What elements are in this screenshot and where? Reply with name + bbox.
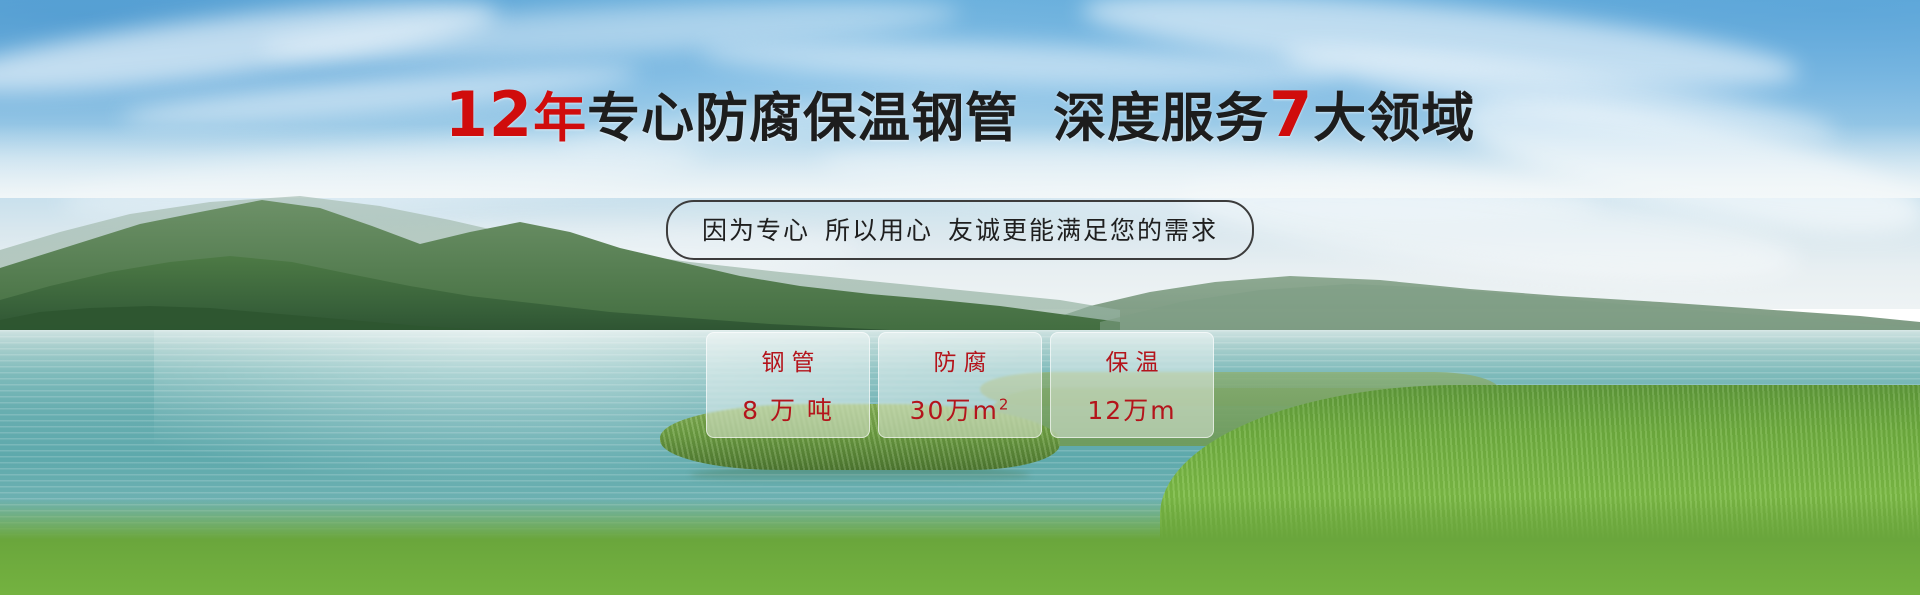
headline-part-two: 深度服务 bbox=[1053, 88, 1269, 149]
stat-value-text: 12万m bbox=[1087, 396, 1176, 425]
headline-part-one: 专心防腐保温钢管 bbox=[587, 88, 1019, 149]
page-title: 12年专心防腐保温钢管深度服务7大领域 bbox=[0, 84, 1920, 146]
stat-label: 保温 bbox=[1099, 343, 1166, 377]
grass-field-bottom bbox=[0, 499, 1920, 595]
headline-part-three: 大领域 bbox=[1313, 88, 1475, 149]
subtitle-segment-1: 因为专心 bbox=[702, 216, 810, 245]
subtitle-segment-3: 友诚更能满足您的需求 bbox=[948, 216, 1218, 245]
stat-card-group: 钢管 8 万 吨 防腐 30万m2 保温 12万m bbox=[706, 332, 1214, 438]
stat-card-anticorrosion[interactable]: 防腐 30万m2 bbox=[878, 332, 1042, 438]
headline-years-unit: 年 bbox=[533, 88, 587, 149]
subtitle-segment-2: 所以用心 bbox=[825, 216, 933, 245]
stat-value-text: 30万m bbox=[910, 396, 999, 425]
stat-value-text: 8 万 吨 bbox=[742, 396, 834, 425]
hero-banner: 12年专心防腐保温钢管深度服务7大领域 因为专心所以用心友诚更能满足您的需求 钢… bbox=[0, 0, 1920, 595]
headline-years-number: 12 bbox=[445, 78, 533, 151]
stat-value: 8 万 吨 bbox=[742, 391, 834, 427]
stat-card-steel-pipe[interactable]: 钢管 8 万 吨 bbox=[706, 332, 870, 438]
stat-label: 钢管 bbox=[755, 343, 822, 377]
stat-value-superscript: 2 bbox=[999, 396, 1011, 414]
stat-card-insulation[interactable]: 保温 12万m bbox=[1050, 332, 1214, 438]
subtitle-pill: 因为专心所以用心友诚更能满足您的需求 bbox=[666, 200, 1254, 260]
headline-fields-number: 7 bbox=[1269, 78, 1313, 151]
stat-label: 防腐 bbox=[927, 343, 994, 377]
stat-value: 12万m bbox=[1087, 391, 1176, 427]
stat-value: 30万m2 bbox=[910, 391, 1011, 427]
